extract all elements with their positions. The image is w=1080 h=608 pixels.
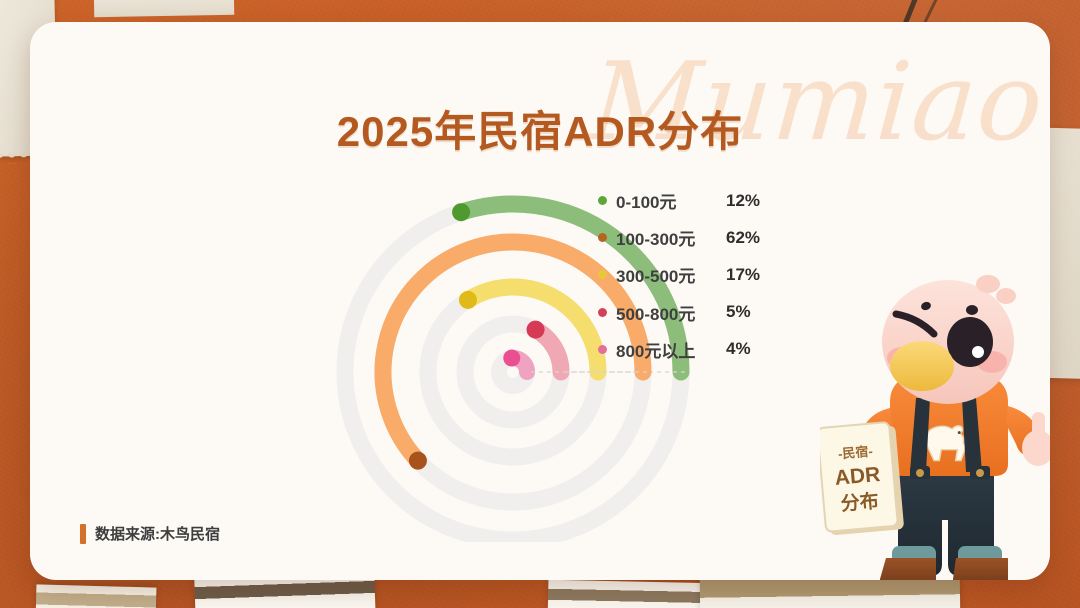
mascot-sign-board: -民宿- ADR 分布 <box>820 421 904 535</box>
legend-color-dot-icon <box>598 233 607 242</box>
decorative-photo-scrap-1 <box>36 584 157 608</box>
infographic-card: Mumiao 2025年民宿ADR分布 0-100元 12% 100-300元 … <box>30 22 1050 580</box>
mascot-boot-right <box>953 558 1008 580</box>
legend-value: 62% <box>726 228 760 248</box>
legend-label: 800元以上 <box>616 337 726 362</box>
mascot-eye-right <box>947 317 993 367</box>
legend-item-800-plus[interactable]: 800元以上 4% <box>598 331 828 368</box>
legend-label: 300-500元 <box>616 262 726 287</box>
accent-bar-icon <box>80 524 86 544</box>
mascot-thumb-up-icon <box>1032 412 1045 450</box>
decorative-paper-strip-top <box>94 0 235 17</box>
legend-value: 17% <box>726 265 760 285</box>
data-source-note: 数据来源:木鸟民宿 <box>80 523 220 544</box>
legend-label: 500-800元 <box>616 300 726 325</box>
chart-arc-cap-dot <box>459 291 477 309</box>
mascot-boot-left <box>880 558 936 580</box>
chart-legend: 0-100元 12% 100-300元 62% 300-500元 17% 500… <box>598 182 828 368</box>
legend-value: 4% <box>726 339 751 359</box>
legend-label: 0-100元 <box>616 188 726 213</box>
legend-color-dot-icon <box>598 196 607 205</box>
chart-arc-cap-dot <box>527 321 545 339</box>
sign-line-3: 分布 <box>840 489 880 515</box>
data-source-text: 数据来源:木鸟民宿 <box>95 523 220 544</box>
legend-value: 12% <box>726 191 760 211</box>
legend-value: 5% <box>726 302 751 322</box>
legend-color-dot-icon <box>598 308 607 317</box>
legend-item-500-800[interactable]: 500-800元 5% <box>598 294 828 331</box>
sign-line-2: ADR <box>834 463 881 490</box>
mascot-illustration: -民宿- ADR 分布 <box>820 270 1050 580</box>
mascot-beak <box>890 341 954 391</box>
sign-line-1: -民宿- <box>837 444 873 462</box>
chart-arc-cap-dot <box>452 203 470 221</box>
legend-item-0-100[interactable]: 0-100元 12% <box>598 182 828 219</box>
brand-mascot: -民宿- ADR 分布 <box>820 270 1050 580</box>
chart-arc-cap-dot <box>409 452 427 470</box>
legend-item-100-300[interactable]: 100-300元 62% <box>598 219 828 256</box>
legend-color-dot-icon <box>598 345 607 354</box>
legend-item-300-500[interactable]: 300-500元 17% <box>598 256 828 293</box>
legend-color-dot-icon <box>598 270 607 279</box>
legend-label: 100-300元 <box>616 225 726 250</box>
chart-arc-cap-dot <box>503 350 520 367</box>
page-title: 2025年民宿ADR分布 <box>30 98 1050 159</box>
